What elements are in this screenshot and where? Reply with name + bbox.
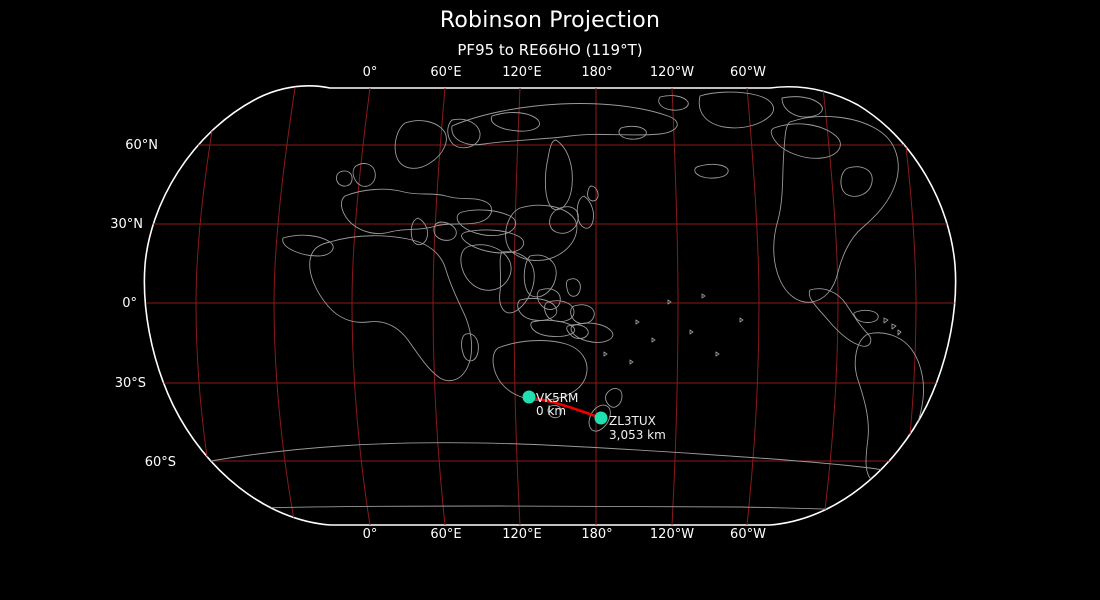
lon-tick-labels-top: 0° 60°E 120°E 180° 120°W 60°W: [363, 65, 766, 80]
world-map[interactable]: 0° 60°E 120°E 180° 120°W 60°W 0° 60°E 12…: [0, 0, 1100, 600]
graticule-meridians: [196, 88, 916, 525]
lon-tick-bottom-2: 120°E: [502, 527, 542, 542]
coastlines: [176, 92, 924, 512]
lon-tick-bottom-1: 60°E: [430, 527, 461, 542]
station-dot-vk5rm[interactable]: [523, 391, 536, 404]
station-label-zl3tux-callsign: ZL3TUX: [609, 414, 656, 428]
lat-tick-0: 0°: [122, 296, 137, 311]
station-marker-destination[interactable]: ZL3TUX 3,053 km: [595, 412, 666, 443]
station-label-vk5rm-distance: 0 km: [536, 404, 566, 418]
lon-tick-labels-bottom: 0° 60°E 120°E 180° 120°W 60°W: [363, 527, 766, 542]
lat-tick-30s: 30°S: [115, 376, 146, 391]
lat-tick-60s: 60°S: [145, 455, 176, 470]
station-label-zl3tux-distance: 3,053 km: [609, 428, 666, 442]
station-dot-zl3tux[interactable]: [595, 412, 608, 425]
lon-tick-bottom-0: 0°: [363, 527, 378, 542]
lon-tick-top-1: 60°E: [430, 65, 461, 80]
lon-tick-bottom-5: 60°W: [730, 527, 766, 542]
map-boundary: [144, 86, 955, 525]
lon-tick-bottom-3: 180°: [581, 527, 612, 542]
station-label-vk5rm-callsign: VK5RM: [536, 391, 578, 405]
lat-tick-30n: 30°N: [110, 217, 143, 232]
lon-tick-top-0: 0°: [363, 65, 378, 80]
lat-tick-labels: 60°N 30°N 0° 30°S 60°S: [110, 138, 176, 470]
lon-tick-top-5: 60°W: [730, 65, 766, 80]
lon-tick-bottom-4: 120°W: [650, 527, 694, 542]
lon-tick-top-3: 180°: [581, 65, 612, 80]
lon-tick-top-4: 120°W: [650, 65, 694, 80]
lon-tick-top-2: 120°E: [502, 65, 542, 80]
station-marker-origin[interactable]: VK5RM 0 km: [523, 391, 579, 419]
figure-canvas: Robinson Projection PF95 to RE66HO (119°…: [0, 0, 1100, 600]
lat-tick-60n: 60°N: [125, 138, 158, 153]
